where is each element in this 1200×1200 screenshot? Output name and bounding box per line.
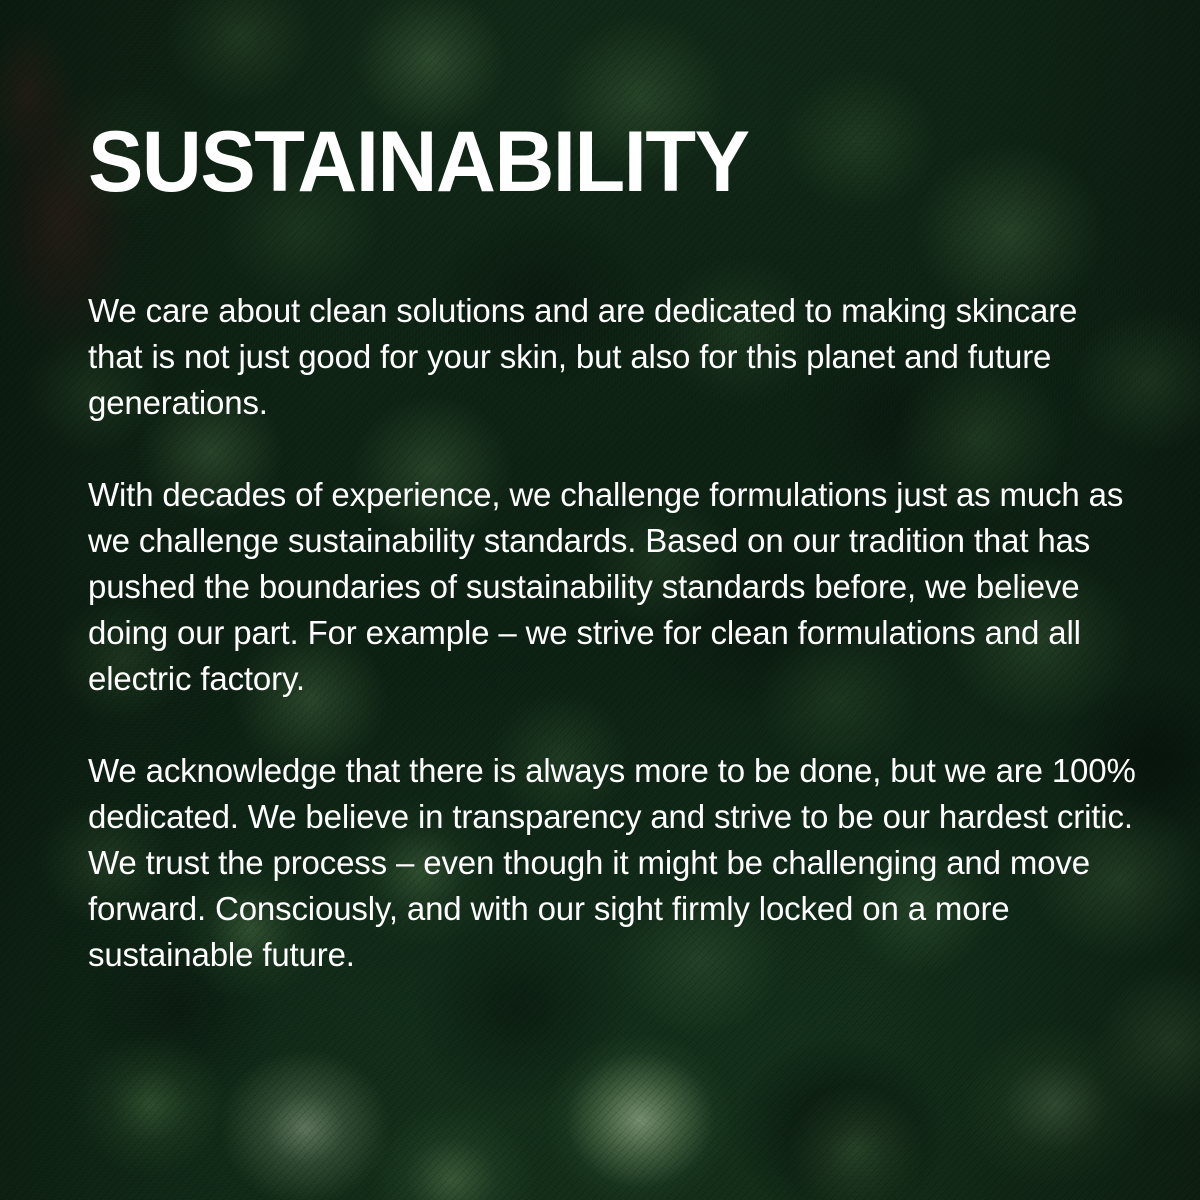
paragraph-3: We acknowledge that there is always more… — [88, 748, 1136, 978]
paragraph-2: With decades of experience, we challenge… — [88, 472, 1136, 702]
poster-content: SUSTAINABILITY We care about clean solut… — [88, 0, 1148, 1200]
page-title: SUSTAINABILITY — [88, 116, 749, 208]
paragraph-1: We care about clean solutions and are de… — [88, 288, 1136, 426]
body-copy: We care about clean solutions and are de… — [88, 288, 1136, 978]
sustainability-poster: SUSTAINABILITY We care about clean solut… — [0, 0, 1200, 1200]
